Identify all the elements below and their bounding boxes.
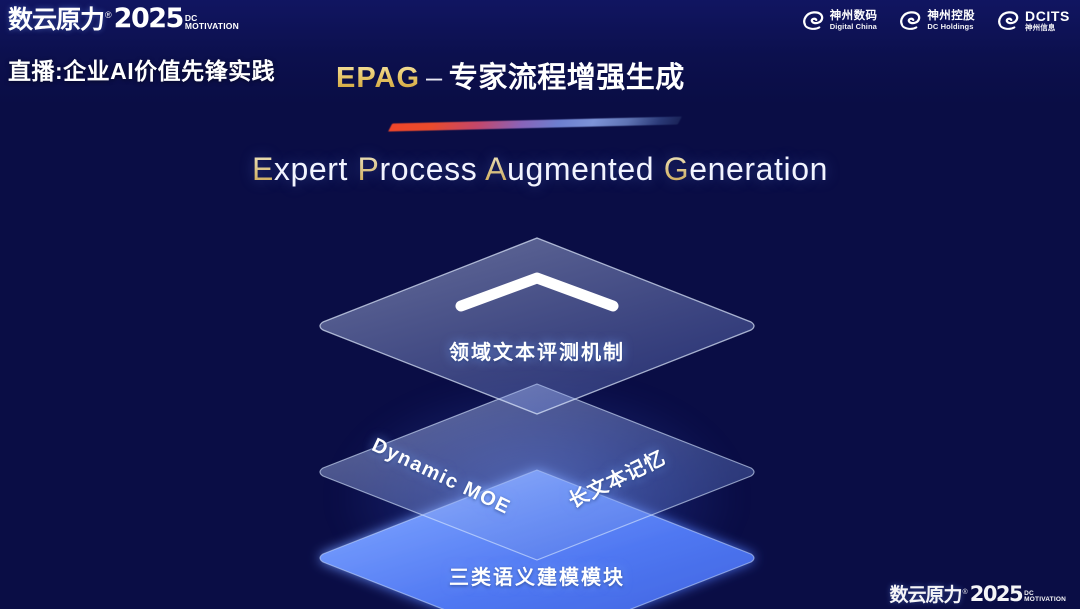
swirl-logo-icon [897,8,922,33]
diamond-shape-top [313,232,761,420]
partner-name-en: 神州信息 [1025,24,1070,32]
subtitle-english: Expert Process Augmented Generation [0,151,1080,188]
subtitle-cap-a: A [485,151,507,187]
partner-logo-digital-china: 神州数码 Digital China [800,8,878,33]
decorative-gradient-bar [388,117,682,132]
footer-logo-sub-line2: MOTIVATION [1024,597,1066,604]
subtitle-rest-process: rocess [380,151,478,187]
partner-logo-dcits: DCITS 神州信息 [995,8,1070,33]
partner-name-en: DC Holdings [927,23,975,31]
event-logo-registered-mark: ® [105,11,112,20]
event-logo-subtext: DC MOTIVATION [185,14,239,31]
partner-logo-text: DCITS 神州信息 [1025,9,1070,32]
subtitle-cap-g: G [664,151,690,187]
subtitle-cap-p: P [358,151,380,187]
event-logo-sub-line2: MOTIVATION [185,22,239,31]
swirl-logo-icon [800,8,825,33]
subtitle-rest-augmented: ugmented [507,151,654,187]
subtitle-cap-e: E [252,151,274,187]
event-logo: 数云原力 ® 2025 DC MOTIVATION [8,5,239,32]
footer-logo-year: 2025 [970,584,1022,605]
partner-name-en: Digital China [830,23,878,31]
partner-name-cn: 神州控股 [927,10,975,22]
event-logo-name-cn: 数云原力 [8,7,104,32]
subtitle-rest-expert: xpert [274,151,348,187]
partner-logo-text: 神州数码 Digital China [830,10,878,31]
subtitle-rest-generation: eneration [689,151,828,187]
stack-layer-top[interactable]: 领域文本评测机制 [313,232,761,420]
live-session-title: 直播:企业AI价值先锋实践 [8,52,275,86]
swirl-logo-icon [995,8,1020,33]
partner-name-cn: 神州数码 [830,10,878,22]
layered-diamond-diagram: 三类语义建模模块 Dynamic MOE 长文本记忆 [313,232,761,562]
event-logo-year: 2025 [114,5,183,32]
page-title: EPAG–专家流程增强生成 [336,54,685,96]
footer-logo-subtext: DC MOTIVATION [1024,591,1066,604]
partner-name-cn: DCITS [1025,9,1070,24]
footer-logo-registered-mark: ® [963,589,968,596]
partner-logo-group: 神州数码 Digital China 神州控股 DC Holdings DCIT… [800,8,1070,33]
footer-logo-name-cn: 数云原力 [890,586,962,605]
title-acronym: EPAG [336,62,420,94]
slide-canvas: 数云原力 ® 2025 DC MOTIVATION 直播:企业AI价值先锋实践 … [0,0,1080,609]
partner-logo-text: 神州控股 DC Holdings [927,10,975,31]
title-chinese: 专家流程增强生成 [449,62,685,94]
partner-logo-dc-holdings: 神州控股 DC Holdings [897,8,975,33]
title-dash: – [426,62,443,94]
chevron-up-icon [453,270,621,314]
footer-watermark-logo: 数云原力 ® 2025 DC MOTIVATION [890,584,1066,605]
